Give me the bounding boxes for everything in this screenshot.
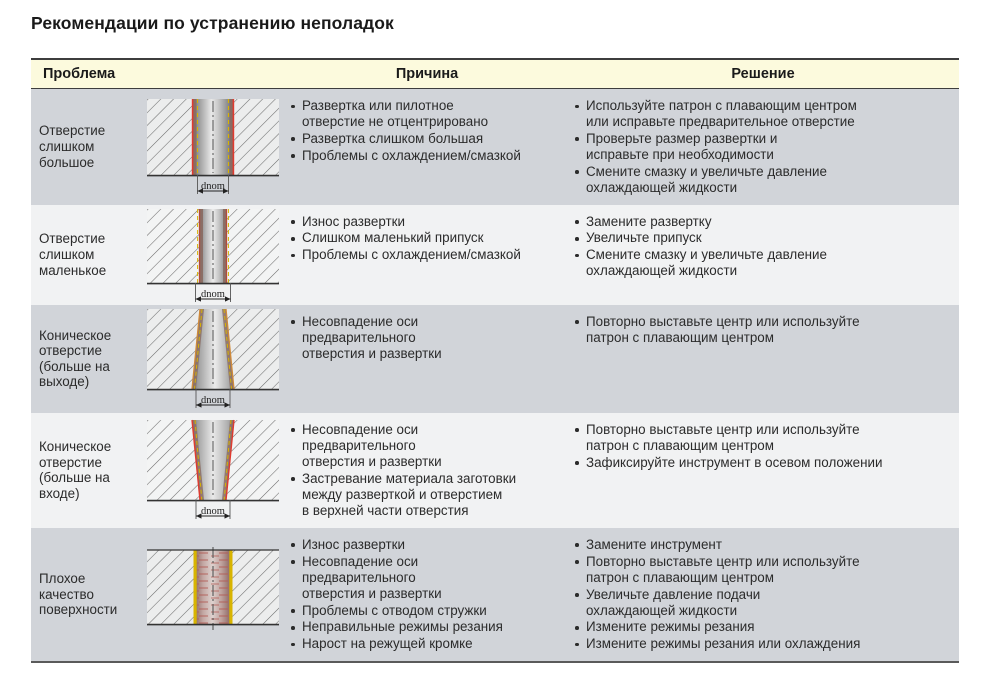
list-item: Развертка или пилотное отверстие не отце… [289, 98, 561, 130]
list-item: Повторно выставьте центр или используйте… [573, 422, 953, 454]
figure-bore-taper-exit: dnom [139, 305, 287, 413]
bore-rough-surface-diagram [139, 544, 287, 644]
bore-undersize-diagram: dnom [139, 205, 287, 305]
list-item: Замените инструмент [573, 537, 953, 553]
table-header: Проблема Причина Решение [31, 59, 959, 89]
list-item: Повторно выставьте центр или используйте… [573, 554, 953, 586]
list-item: Повторно выставьте центр или используйте… [573, 314, 953, 346]
list-item: Несовпадение оси предварительного отверс… [289, 554, 561, 603]
cause-list: Несовпадение оси предварительного отверс… [289, 314, 561, 363]
header-cause: Причина [287, 59, 567, 89]
list-item: Износ развертки [289, 537, 561, 553]
problem-label: Отверстие слишком большое [31, 89, 139, 205]
solution-cell: Используйте патрон с плавающим центром и… [567, 89, 959, 205]
cause-cell: Развертка или пилотное отверстие не отце… [287, 89, 567, 205]
solution-list: Замените развертку Увеличьте припуск Сме… [573, 214, 953, 280]
solution-list: Замените инструмент Повторно выставьте ц… [573, 537, 953, 652]
solution-cell: Повторно выставьте центр или используйте… [567, 305, 959, 413]
dimension-label: dnom [201, 395, 225, 406]
list-item: Нарост на режущей кромке [289, 636, 561, 652]
figure-bore-oversize: dnom [139, 89, 287, 205]
list-item: Измените режимы резания [573, 619, 953, 635]
table-row: Отверстие слишком большое [31, 89, 959, 205]
cause-cell: Несовпадение оси предварительного отверс… [287, 305, 567, 413]
figure-bore-rough-surface [139, 528, 287, 662]
cause-cell: Несовпадение оси предварительного отверс… [287, 413, 567, 528]
troubleshooting-page: Рекомендации по устранению неполадок Про… [0, 0, 990, 697]
figure-bore-taper-entry: dnom [139, 413, 287, 528]
list-item: Зафиксируйте инструмент в осевом положен… [573, 455, 953, 471]
list-item: Износ развертки [289, 214, 561, 230]
list-item: Проверьте размер развертки и исправьте п… [573, 131, 953, 163]
table-body: Отверстие слишком большое [31, 89, 959, 662]
solution-list: Используйте патрон с плавающим центром и… [573, 98, 953, 196]
list-item: Неправильные режимы резания [289, 619, 561, 635]
dimension-label: dnom [201, 506, 225, 517]
problem-label: Коническое отверстие (больше на выходе) [31, 305, 139, 413]
list-item: Замените развертку [573, 214, 953, 230]
problem-label: Коническое отверстие (больше на входе) [31, 413, 139, 528]
dimension-label: dnom [201, 289, 225, 300]
cause-list: Несовпадение оси предварительного отверс… [289, 422, 561, 520]
list-item: Увеличьте давление подачи охлаждающей жи… [573, 587, 953, 619]
header-problem: Проблема [31, 59, 287, 89]
list-item: Используйте патрон с плавающим центром и… [573, 98, 953, 130]
table-row: Отверстие слишком маленькое [31, 205, 959, 305]
list-item: Несовпадение оси предварительного отверс… [289, 422, 561, 471]
dimension-label: dnom [201, 181, 225, 192]
solution-cell: Замените развертку Увеличьте припуск Сме… [567, 205, 959, 305]
list-item: Развертка слишком большая [289, 131, 561, 147]
solution-cell: Замените инструмент Повторно выставьте ц… [567, 528, 959, 662]
list-item: Измените режимы резания или охлаждения [573, 636, 953, 652]
header-row: Проблема Причина Решение [31, 59, 959, 89]
bore-taper-entry-diagram: dnom [139, 416, 287, 524]
page-title: Рекомендации по устранению неполадок [31, 13, 394, 34]
troubleshooting-table-wrapper: Проблема Причина Решение Отверстие слишк… [31, 58, 959, 663]
list-item: Застревание материала заготовки между ра… [289, 471, 561, 520]
solution-list: Повторно выставьте центр или используйте… [573, 422, 953, 471]
problem-label: Плохое качество поверхности [31, 528, 139, 662]
bore-oversize-diagram: dnom [139, 95, 287, 199]
cause-cell: Износ развертки Слишком маленький припус… [287, 205, 567, 305]
troubleshooting-table: Проблема Причина Решение Отверстие слишк… [31, 58, 959, 663]
list-item: Проблемы с отводом стружки [289, 603, 561, 619]
solution-cell: Повторно выставьте центр или используйте… [567, 413, 959, 528]
list-item: Несовпадение оси предварительного отверс… [289, 314, 561, 363]
table-row: Коническое отверстие (больше на выходе) [31, 305, 959, 413]
cause-list: Развертка или пилотное отверстие не отце… [289, 98, 561, 164]
list-item: Увеличьте припуск [573, 230, 953, 246]
problem-label: Отверстие слишком маленькое [31, 205, 139, 305]
table-row: Плохое качество поверхности [31, 528, 959, 662]
list-item: Смените смазку и увеличьте давление охла… [573, 247, 953, 279]
cause-cell: Износ развертки Несовпадение оси предвар… [287, 528, 567, 662]
list-item: Проблемы с охлаждением/смазкой [289, 148, 561, 164]
bore-taper-exit-diagram: dnom [139, 305, 287, 413]
table-row: Коническое отверстие (больше на входе) [31, 413, 959, 528]
cause-list: Износ развертки Слишком маленький припус… [289, 214, 561, 264]
list-item: Смените смазку и увеличьте давление охла… [573, 164, 953, 196]
list-item: Проблемы с охлаждением/смазкой [289, 247, 561, 263]
solution-list: Повторно выставьте центр или используйте… [573, 314, 953, 346]
cause-list: Износ развертки Несовпадение оси предвар… [289, 537, 561, 652]
figure-bore-undersize: dnom [139, 205, 287, 305]
list-item: Слишком маленький припуск [289, 230, 561, 246]
header-solution: Решение [567, 59, 959, 89]
